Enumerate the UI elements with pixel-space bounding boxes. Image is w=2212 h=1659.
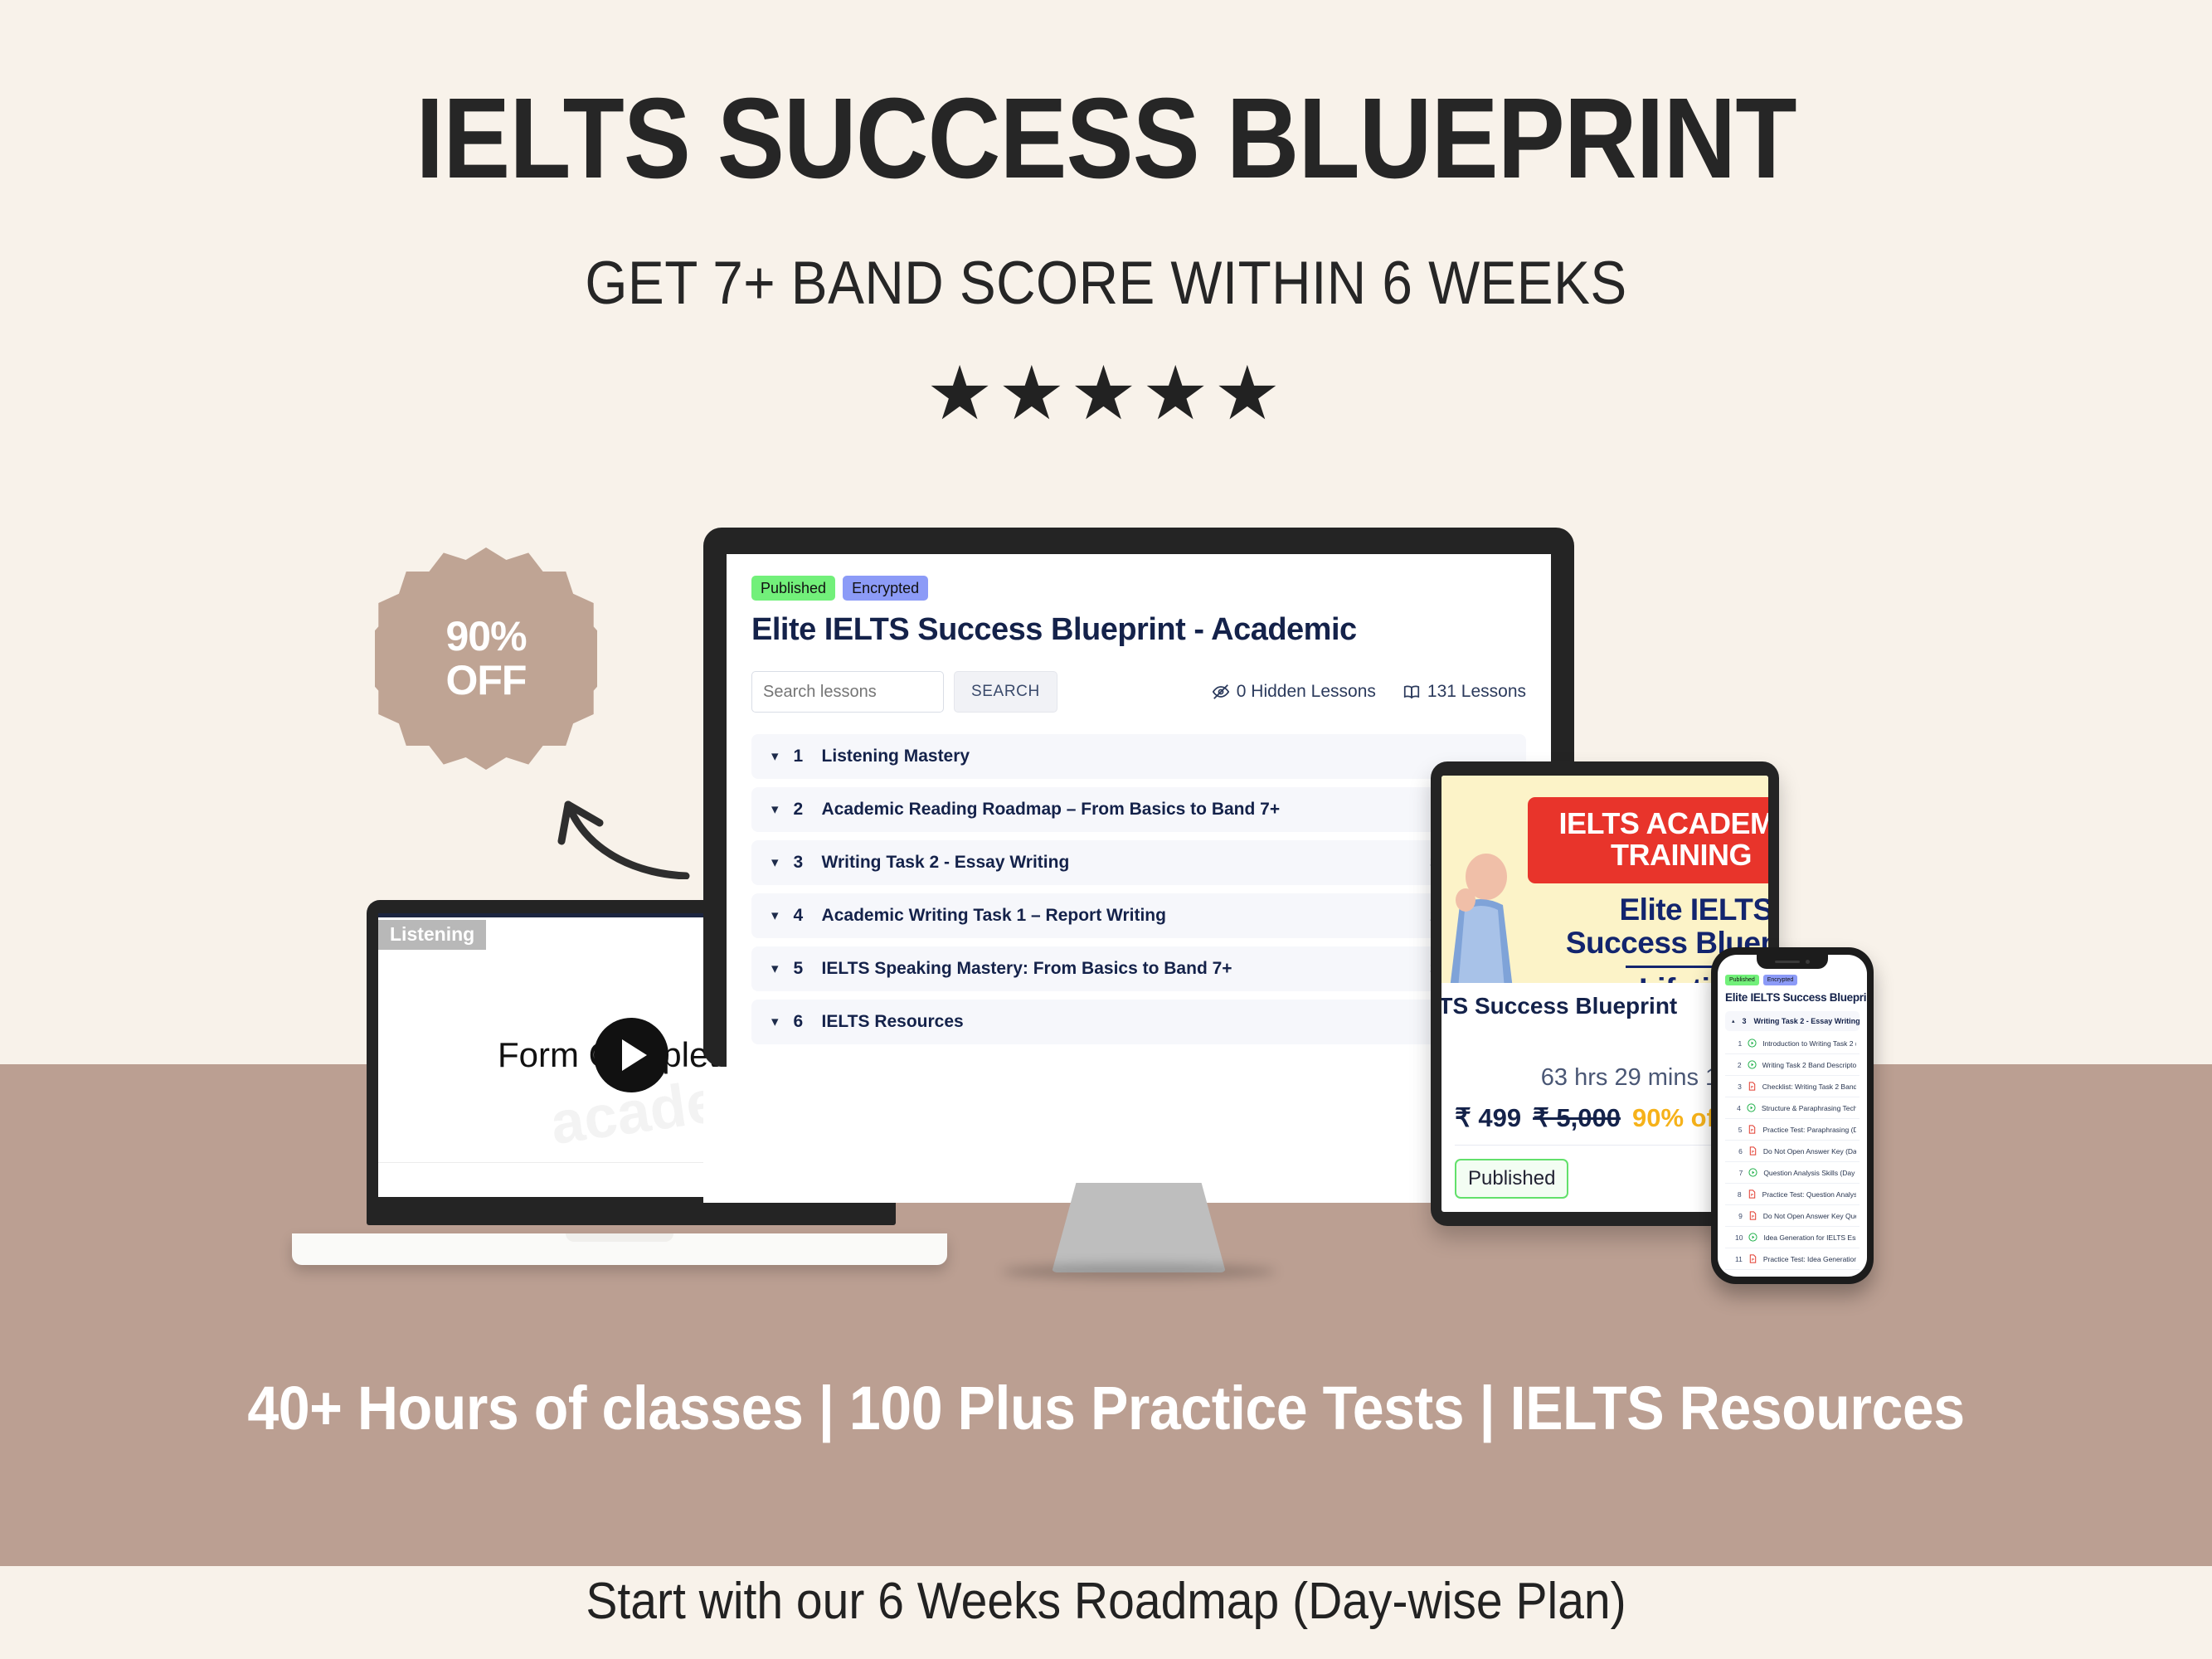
section-number: 1 xyxy=(794,747,807,766)
phone-frame: Published Encrypted Elite IELTS Success … xyxy=(1711,947,1874,1284)
section-title: Writing Task 2 - Essay Writing xyxy=(822,853,1070,873)
pdf-file-icon: P xyxy=(1748,1146,1757,1155)
lesson-title: Do Not Open Answer Key (Day 24.1) xyxy=(1763,1147,1856,1155)
pdf-file-icon: P xyxy=(1748,1082,1757,1091)
chevron-down-icon[interactable]: ▾ xyxy=(771,801,779,818)
discount-percent: 90% xyxy=(445,615,526,659)
video-play-icon xyxy=(1748,1039,1757,1048)
section-number: 3 xyxy=(794,853,807,873)
lesson-number: 10 xyxy=(1735,1233,1743,1242)
lesson-number: 9 xyxy=(1735,1212,1743,1220)
phone-section-row[interactable]: ▴ 3 Writing Task 2 - Essay Writing xyxy=(1725,1011,1860,1031)
phone-status-badge-published: Published xyxy=(1725,975,1759,985)
section-title: IELTS Resources xyxy=(822,1012,964,1032)
chevron-down-icon[interactable]: ▾ xyxy=(771,748,779,765)
course-section-row[interactable]: ▾ 5 IELTS Speaking Mastery: From Basics … xyxy=(751,946,1526,991)
phone-status-badge-encrypted: Encrypted xyxy=(1763,975,1798,985)
phone-screen: Published Encrypted Elite IELTS Success … xyxy=(1718,955,1867,1277)
phone-lesson-row[interactable]: 11 P Practice Test: Idea Generation (Day… xyxy=(1725,1248,1860,1270)
course-section-row[interactable]: ▾ 1 Listening Mastery xyxy=(751,734,1526,779)
svg-text:P: P xyxy=(1752,1258,1754,1262)
lesson-title: Introduction to Writing Task 2 (Day 23.1… xyxy=(1762,1039,1856,1048)
tablet-course-title: Elite IELTS Success Blueprint xyxy=(1441,993,1755,1019)
lesson-number: 11 xyxy=(1735,1255,1743,1263)
lesson-number: 7 xyxy=(1735,1169,1743,1177)
status-badge-encrypted: Encrypted xyxy=(843,576,928,601)
banner-blue-line1: Elite IELTS xyxy=(1516,893,1768,927)
section-title: Academic Writing Task 1 – Report Writing xyxy=(822,906,1166,926)
hidden-lessons-meta: 0 Hidden Lessons xyxy=(1212,682,1376,702)
phone-lesson-row[interactable]: 10 Idea Generation for IELTS Essays (Day… xyxy=(1725,1227,1860,1248)
tablet-price-row: ₹ 499 ₹ 5,000 90% off xyxy=(1455,1092,1755,1146)
poster-canvas: IELTS SUCCESS BLUEPRINT GET 7+ BAND SCOR… xyxy=(0,0,2212,1659)
phone-lesson-row[interactable]: 2 Writing Task 2 Band Descriptors (Day 2… xyxy=(1725,1054,1860,1076)
discount-off-label: OFF xyxy=(446,659,527,703)
lesson-number: 5 xyxy=(1735,1126,1742,1134)
course-section-row[interactable]: ▾ 2 Academic Reading Roadmap – From Basi… xyxy=(751,787,1526,832)
phone-lesson-list: 1 Introduction to Writing Task 2 (Day 23… xyxy=(1725,1033,1860,1270)
video-play-icon xyxy=(1747,1103,1756,1112)
lesson-title: Do Not Open Answer Key Question... xyxy=(1763,1212,1856,1220)
phone-lesson-row[interactable]: 4 Structure & Paraphrasing Techniques (D… xyxy=(1725,1097,1860,1119)
course-section-row[interactable]: ▾ 6 IELTS Resources xyxy=(751,1000,1526,1044)
price-discount: 90% off xyxy=(1632,1103,1723,1133)
chevron-up-icon[interactable]: ▴ xyxy=(1732,1018,1735,1024)
video-play-icon xyxy=(1748,1060,1757,1069)
phone-notch xyxy=(1757,955,1828,969)
phone-device: Published Encrypted Elite IELTS Success … xyxy=(1711,947,1874,1284)
svg-text:P: P xyxy=(1751,1085,1753,1089)
book-icon xyxy=(1403,683,1421,701)
lesson-title: Practice Test: Idea Generation (Day 25) xyxy=(1763,1255,1856,1263)
pdf-file-icon: P xyxy=(1748,1190,1757,1199)
course-section-row[interactable]: ▾ 3 Writing Task 2 - Essay Writing 34 Le… xyxy=(751,840,1526,885)
discount-badge: 90% OFF xyxy=(375,547,597,770)
chevron-down-icon[interactable]: ▾ xyxy=(771,854,779,871)
lesson-title: Idea Generation for IELTS Essays (Day 25… xyxy=(1763,1233,1856,1242)
svg-text:P: P xyxy=(1752,1214,1754,1219)
banner-red-line1: IELTS ACADEMIC xyxy=(1541,808,1768,839)
play-button-icon[interactable] xyxy=(594,1018,668,1092)
lesson-title: Structure & Paraphrasing Techniques (Day… xyxy=(1762,1104,1856,1112)
lesson-number: 2 xyxy=(1735,1061,1742,1069)
video-play-icon xyxy=(1748,1168,1757,1177)
lesson-title: Writing Task 2 Band Descriptors (Day 23.… xyxy=(1762,1061,1856,1069)
lesson-number: 6 xyxy=(1735,1147,1743,1155)
phone-lesson-row[interactable]: 9 P Do Not Open Answer Key Question... xyxy=(1725,1205,1860,1227)
phone-status-badge-group: Published Encrypted xyxy=(1725,975,1860,985)
phone-section-number: 3 xyxy=(1743,1017,1747,1025)
phone-lesson-row[interactable]: 6 P Do Not Open Answer Key (Day 24.1) xyxy=(1725,1141,1860,1162)
price-original: ₹ 5,000 xyxy=(1533,1103,1621,1133)
price-current: ₹ 499 xyxy=(1455,1103,1521,1133)
pdf-file-icon: P xyxy=(1748,1254,1757,1263)
section-number: 2 xyxy=(794,800,807,820)
star-rating-icons: ★★★★★ xyxy=(0,357,2212,431)
phone-lesson-row[interactable]: 3 P Checklist: Writing Task 2 Band Descr… xyxy=(1725,1076,1860,1097)
pdf-file-icon: P xyxy=(1748,1125,1757,1134)
section-title: Listening Mastery xyxy=(822,747,970,766)
section-title: IELTS Speaking Mastery: From Basics to B… xyxy=(822,959,1232,979)
total-lessons-meta: 131 Lessons xyxy=(1403,682,1526,702)
search-button[interactable]: SEARCH xyxy=(954,671,1057,713)
hidden-lessons-text: 0 Hidden Lessons xyxy=(1237,682,1376,702)
phone-lesson-row[interactable]: 1 Introduction to Writing Task 2 (Day 23… xyxy=(1725,1033,1860,1054)
page-title: IELTS SUCCESS BLUEPRINT xyxy=(133,73,2079,205)
lesson-number: 8 xyxy=(1735,1190,1742,1199)
section-number: 5 xyxy=(794,959,807,979)
lesson-meta: 0 Hidden Lessons 131 Lessons xyxy=(1212,682,1526,702)
phone-section-title: Writing Task 2 - Essay Writing xyxy=(1754,1017,1860,1025)
lesson-number: 1 xyxy=(1735,1039,1742,1048)
camera-icon xyxy=(1806,960,1810,964)
search-input[interactable] xyxy=(751,671,944,713)
lesson-title: Practice Test: Paraphrasing (Day 24.1) xyxy=(1762,1126,1856,1134)
course-section-list: ▾ 1 Listening Mastery ▾ 2 Academic Readi… xyxy=(751,734,1526,1044)
phone-lesson-row[interactable]: 5 P Practice Test: Paraphrasing (Day 24.… xyxy=(1725,1119,1860,1141)
page-subtitle: GET 7+ BAND SCORE WITHIN 6 WEEKS xyxy=(110,249,2101,318)
chevron-down-icon[interactable]: ▾ xyxy=(771,961,779,977)
lesson-number: 4 xyxy=(1735,1104,1741,1112)
feature-highlights: 40+ Hours of classes | 100 Plus Practice… xyxy=(89,1373,2124,1443)
chevron-down-icon[interactable]: ▾ xyxy=(771,1014,779,1030)
video-play-icon xyxy=(1748,1233,1757,1242)
banner-red-line2: TRAINING xyxy=(1541,839,1768,871)
laptop-notch xyxy=(566,1233,673,1242)
lesson-title: Checklist: Writing Task 2 Band Descripto… xyxy=(1762,1082,1856,1091)
total-lessons-text: 131 Lessons xyxy=(1427,682,1526,702)
eye-off-icon xyxy=(1212,683,1230,701)
lesson-number: 3 xyxy=(1735,1082,1742,1091)
monitor-screen: Published Encrypted Elite IELTS Success … xyxy=(727,554,1551,1067)
curved-arrow-icon xyxy=(543,771,693,879)
pdf-file-icon: P xyxy=(1748,1211,1757,1220)
svg-text:P: P xyxy=(1752,1128,1754,1132)
chevron-down-icon[interactable]: ▾ xyxy=(771,907,779,924)
search-row: SEARCH 0 Hidden Lessons xyxy=(751,671,1526,713)
svg-text:P: P xyxy=(1752,1150,1754,1154)
tablet-status-badge: Published xyxy=(1455,1159,1568,1199)
section-number: 4 xyxy=(794,906,807,926)
phone-lesson-row[interactable]: 8 P Practice Test: Question Analysis (Da… xyxy=(1725,1184,1860,1205)
phone-course-title: Elite IELTS Success Blueprint xyxy=(1725,991,1860,1004)
monitor-stand xyxy=(1052,1183,1226,1272)
closing-callout: Start with our 6 Weeks Roadmap (Day-wise… xyxy=(89,1572,2124,1631)
lesson-title: Practice Test: Question Analysis (Day 24… xyxy=(1762,1190,1856,1199)
section-title: Academic Reading Roadmap – From Basics t… xyxy=(822,800,1281,820)
course-section-row[interactable]: ▾ 4 Academic Writing Task 1 – Report Wri… xyxy=(751,893,1526,938)
course-title: Elite IELTS Success Blueprint - Academic xyxy=(751,612,1526,648)
phone-lesson-row[interactable]: 7 Question Analysis Skills (Day 24.2) xyxy=(1725,1162,1860,1184)
lesson-title: Question Analysis Skills (Day 24.2) xyxy=(1763,1169,1856,1177)
monitor-shadow xyxy=(1002,1264,1276,1279)
starburst-icon: 90% OFF xyxy=(375,547,597,770)
svg-text:P: P xyxy=(1751,1193,1753,1197)
section-number: 6 xyxy=(794,1012,807,1032)
status-badge-published: Published xyxy=(751,576,835,601)
speaker-icon xyxy=(1775,961,1800,964)
status-badge-group: Published Encrypted xyxy=(751,576,1526,601)
person-illustration xyxy=(1443,852,1519,983)
banner-red-title: IELTS ACADEMIC TRAINING xyxy=(1528,797,1768,883)
